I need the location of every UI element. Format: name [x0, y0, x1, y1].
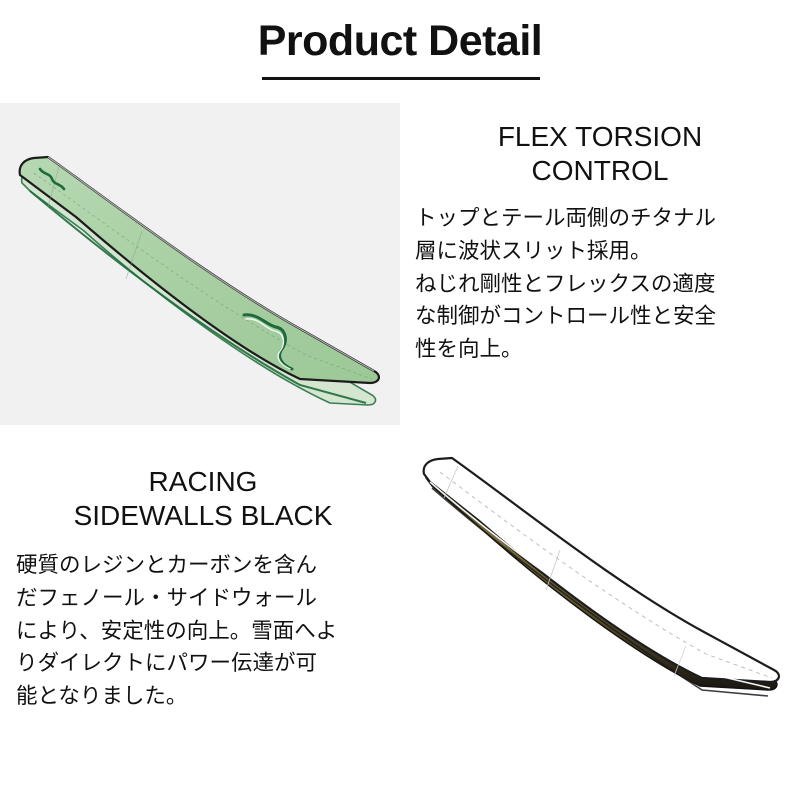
black-sidewall-ski-illustration: [400, 440, 800, 740]
racing-sidewalls-body-line-1: 硬質のレジンとカーボンを含ん: [16, 549, 398, 582]
flex-torsion-heading-line-1: FLEX TORSION: [498, 121, 702, 152]
flex-torsion-body-line-5: 性を向上。: [415, 333, 792, 366]
racing-sidewalls-image-panel: [400, 440, 800, 740]
product-detail-page: Product Detail: [0, 0, 800, 800]
flex-torsion-body-line-4: な制御がコントロール性と安全: [415, 300, 792, 333]
racing-sidewalls-body-line-2: だフェノール・サイドウォール: [16, 582, 398, 615]
flex-torsion-image-panel: [0, 103, 400, 425]
flex-torsion-body: トップとテール両側のチタナル 層に波状スリット採用。 ねじれ剛性とフレックスの適…: [408, 202, 792, 365]
section-flex-torsion-control: FLEX TORSION CONTROL トップとテール両側のチタナル 層に波状…: [408, 120, 792, 366]
flex-torsion-body-line-3: ねじれ剛性とフレックスの適度: [415, 268, 792, 301]
racing-sidewalls-heading-line-1: RACING: [149, 466, 258, 497]
racing-sidewalls-heading: RACING SIDEWALLS BLACK: [8, 465, 398, 533]
racing-sidewalls-body: 硬質のレジンとカーボンを含ん だフェノール・サイドウォール により、安定性の向上…: [8, 549, 398, 712]
flex-torsion-body-line-2: 層に波状スリット採用。: [415, 235, 792, 268]
page-title: Product Detail: [0, 18, 800, 65]
green-ski-plate-illustration: [0, 103, 400, 425]
racing-sidewalls-body-line-4: りダイレクトにパワー伝達が可: [16, 647, 398, 680]
title-underline: [262, 77, 540, 80]
flex-torsion-heading-line-2: CONTROL: [532, 155, 669, 186]
flex-torsion-body-line-1: トップとテール両側のチタナル: [415, 202, 792, 235]
racing-sidewalls-heading-line-2: SIDEWALLS BLACK: [74, 500, 333, 531]
section-racing-sidewalls-black: RACING SIDEWALLS BLACK 硬質のレジンとカーボンを含ん だフ…: [8, 465, 398, 713]
flex-torsion-heading: FLEX TORSION CONTROL: [408, 120, 792, 188]
racing-sidewalls-body-line-3: により、安定性の向上。雪面へよ: [16, 615, 398, 648]
racing-sidewalls-body-line-5: 能となりました。: [16, 680, 398, 713]
